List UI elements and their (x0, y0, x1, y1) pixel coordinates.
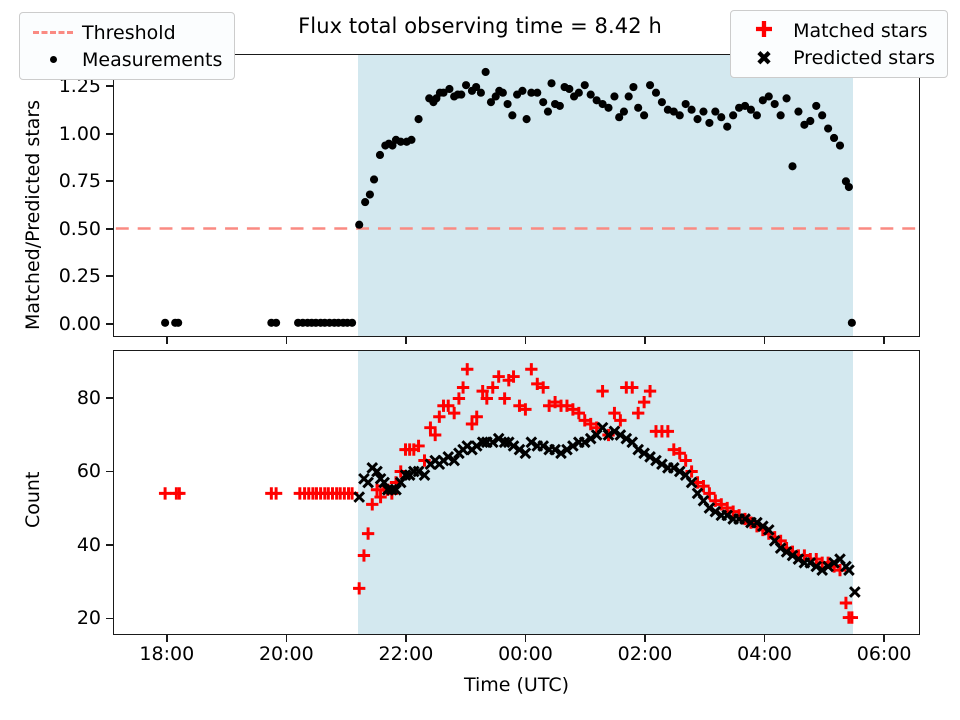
x-tick-mark (883, 337, 885, 344)
data-point (629, 83, 637, 91)
x-tick-mark (644, 635, 646, 642)
legend-label-matched-stars: Matched stars (787, 20, 927, 42)
data-point (638, 396, 650, 408)
data-point (575, 89, 583, 97)
data-point (812, 102, 820, 110)
top-panel-legend: Threshold Measurements (19, 12, 235, 80)
data-point (525, 363, 537, 375)
data-point (457, 381, 469, 393)
x-tick-mark (764, 635, 766, 642)
data-point (845, 183, 853, 191)
y-tick-mark (106, 228, 113, 230)
data-point (523, 115, 531, 123)
data-point (445, 85, 453, 93)
data-point (682, 100, 690, 108)
data-point (818, 111, 826, 119)
series-matched-stars (159, 363, 858, 624)
data-point (453, 392, 465, 404)
data-point (753, 111, 761, 119)
data-point (626, 381, 638, 393)
bottom-panel-legend: ✚ Matched stars ✖ Predicted stars (730, 10, 948, 78)
data-point (376, 151, 384, 159)
y-tick-mark (106, 397, 113, 399)
y-tick-label: 40 (30, 534, 101, 556)
top-data-layer (114, 55, 919, 336)
data-point (358, 549, 370, 561)
y-tick-mark (106, 323, 113, 325)
data-point (620, 108, 628, 116)
data-point (366, 190, 374, 198)
data-point (676, 111, 684, 119)
data-point (644, 385, 656, 397)
top-plot-area (114, 55, 919, 336)
bottom-panel-axes (113, 350, 920, 635)
x-tick-label: 22:00 (379, 643, 434, 665)
series-predicted-stars (354, 423, 859, 597)
y-tick-mark (106, 133, 113, 135)
data-point (688, 106, 696, 114)
legend-item-predicted-stars: ✖ Predicted stars (741, 44, 935, 71)
data-point (482, 68, 490, 76)
data-point (848, 319, 856, 327)
x-tick-mark (644, 337, 646, 344)
data-point (499, 89, 507, 97)
data-point (723, 123, 731, 131)
data-point (625, 92, 633, 100)
x-tick-mark (166, 635, 168, 642)
data-point (498, 392, 510, 404)
data-point (361, 198, 369, 206)
y-tick-mark (106, 618, 113, 620)
data-point (457, 91, 465, 99)
bottom-data-layer (114, 351, 919, 634)
data-point (705, 119, 713, 127)
data-point (544, 108, 552, 116)
data-point (539, 98, 547, 106)
data-point (711, 108, 719, 116)
data-point (652, 89, 660, 97)
legend-label-measurements: Measurements (76, 49, 222, 71)
data-point (836, 141, 844, 149)
x-tick-label: 04:00 (737, 643, 792, 665)
data-point (840, 597, 852, 609)
data-point (414, 115, 422, 123)
x-tick-label: 02:00 (618, 643, 673, 665)
data-point (747, 106, 755, 114)
x-axis-label: Time (UTC) (113, 674, 920, 696)
data-point (565, 85, 573, 93)
y-tick-label: 20 (30, 607, 101, 629)
data-point (462, 81, 470, 89)
data-point (610, 92, 618, 100)
data-point (850, 587, 860, 597)
y-tick-mark (106, 544, 113, 546)
legend-item-threshold: Threshold (30, 19, 222, 46)
data-point (646, 81, 654, 89)
threshold-dashed-line-icon (30, 31, 76, 34)
data-point (662, 425, 674, 437)
data-point (771, 100, 779, 108)
figure-canvas: Flux total observing time = 8.42 h 0.000… (0, 0, 960, 720)
bottom-plot-area (114, 351, 919, 634)
x-tick-label: 06:00 (857, 643, 912, 665)
x-tick-mark (883, 635, 885, 642)
data-point (782, 94, 790, 102)
legend-label-threshold: Threshold (76, 22, 176, 44)
data-point (370, 175, 378, 183)
y-tick-mark (106, 180, 113, 182)
x-tick-label: 20:00 (259, 643, 314, 665)
data-point (634, 104, 642, 112)
data-point (504, 100, 512, 108)
data-point (608, 407, 620, 419)
data-point (717, 113, 725, 121)
data-point (461, 363, 473, 375)
data-point (161, 319, 169, 327)
x-tick-mark (764, 337, 766, 344)
y-tick-mark (106, 471, 113, 473)
x-tick-label: 18:00 (139, 643, 194, 665)
legend-item-matched-stars: ✚ Matched stars (741, 17, 935, 44)
data-point (348, 319, 356, 327)
x-tick-mark (405, 337, 407, 344)
data-point (640, 111, 648, 119)
top-panel-axes (113, 54, 920, 337)
data-point (777, 111, 785, 119)
data-point (806, 117, 814, 125)
top-y-axis-label: Matched/Predicted stars (22, 100, 44, 330)
data-point (658, 98, 666, 106)
y-tick-mark (106, 85, 113, 87)
data-point (824, 124, 832, 132)
data-point (788, 162, 796, 170)
data-point (533, 89, 541, 97)
data-point (794, 108, 802, 116)
data-point (407, 136, 415, 144)
data-point (174, 319, 182, 327)
data-point (159, 487, 171, 499)
bottom-y-axis-label: Count (22, 472, 44, 528)
data-point (353, 582, 365, 594)
data-point (556, 102, 564, 110)
data-point (614, 414, 626, 426)
data-point (604, 104, 612, 112)
measurement-dot-icon (30, 56, 76, 63)
y-tick-mark (106, 275, 113, 277)
x-tick-mark (286, 337, 288, 344)
legend-item-measurements: Measurements (30, 46, 222, 73)
data-point (587, 91, 595, 99)
y-tick-label: 80 (30, 387, 101, 409)
cross-marker-icon: ✖ (741, 48, 787, 68)
data-point (729, 111, 737, 119)
data-point (355, 221, 363, 229)
data-point (581, 81, 589, 89)
data-point (362, 527, 374, 539)
x-tick-mark (525, 337, 527, 344)
data-point (830, 134, 838, 142)
data-point (448, 407, 460, 419)
x-tick-mark (286, 635, 288, 642)
data-point (693, 115, 701, 123)
data-point (596, 385, 608, 397)
data-point (508, 111, 516, 119)
data-point (366, 498, 378, 510)
plus-marker-icon: ✚ (741, 20, 787, 42)
data-point (765, 92, 773, 100)
data-point (354, 492, 364, 502)
x-tick-mark (525, 635, 527, 642)
series-measurements (161, 68, 856, 327)
data-point (272, 319, 280, 327)
x-tick-mark (405, 635, 407, 642)
x-tick-mark (166, 337, 168, 344)
data-point (518, 87, 526, 95)
data-point (477, 89, 485, 97)
legend-label-predicted-stars: Predicted stars (787, 47, 935, 69)
data-point (699, 108, 707, 116)
data-point (632, 407, 644, 419)
data-point (680, 454, 692, 466)
data-point (547, 79, 555, 87)
x-tick-label: 00:00 (498, 643, 553, 665)
data-point (433, 411, 445, 423)
data-point (363, 478, 373, 488)
